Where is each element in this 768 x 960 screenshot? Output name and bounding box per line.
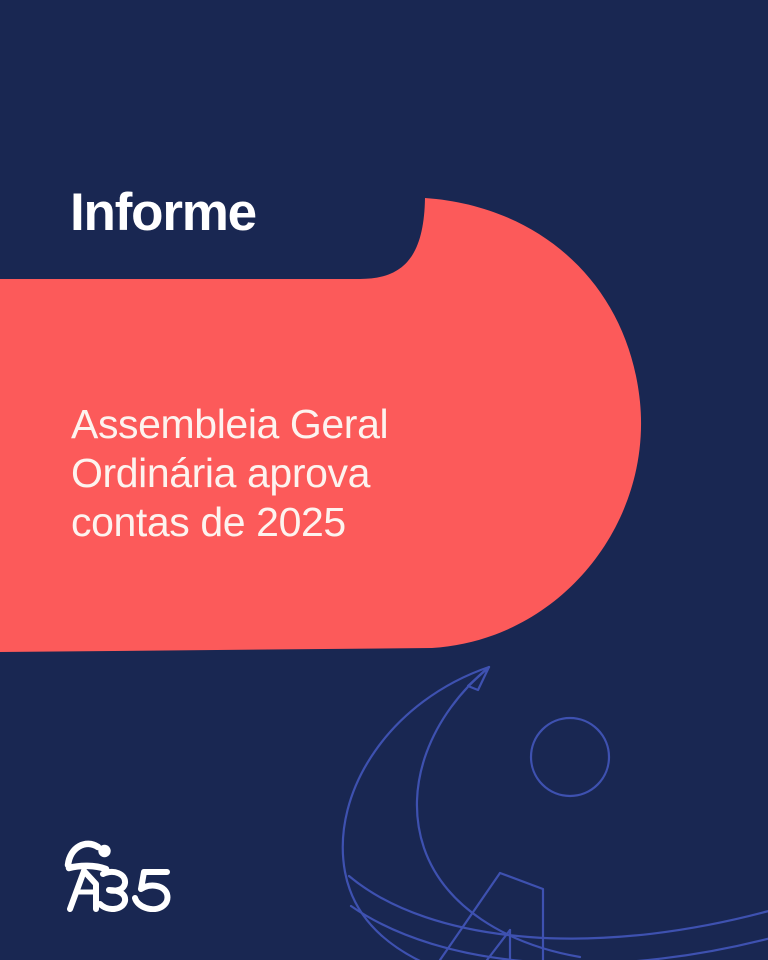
page-eyebrow: Informe xyxy=(70,186,256,239)
headline-line-1: Assembleia Geral xyxy=(71,400,541,449)
page-title: Assembleia Geral Ordinária aprova contas… xyxy=(71,400,541,547)
headline-line-3: contas de 2025 xyxy=(71,498,541,547)
poster-canvas: Informe Assembleia Geral Ordinária aprov… xyxy=(0,0,768,960)
headline-line-2: Ordinária aprova xyxy=(71,449,541,498)
figure-35-logo xyxy=(62,838,174,912)
